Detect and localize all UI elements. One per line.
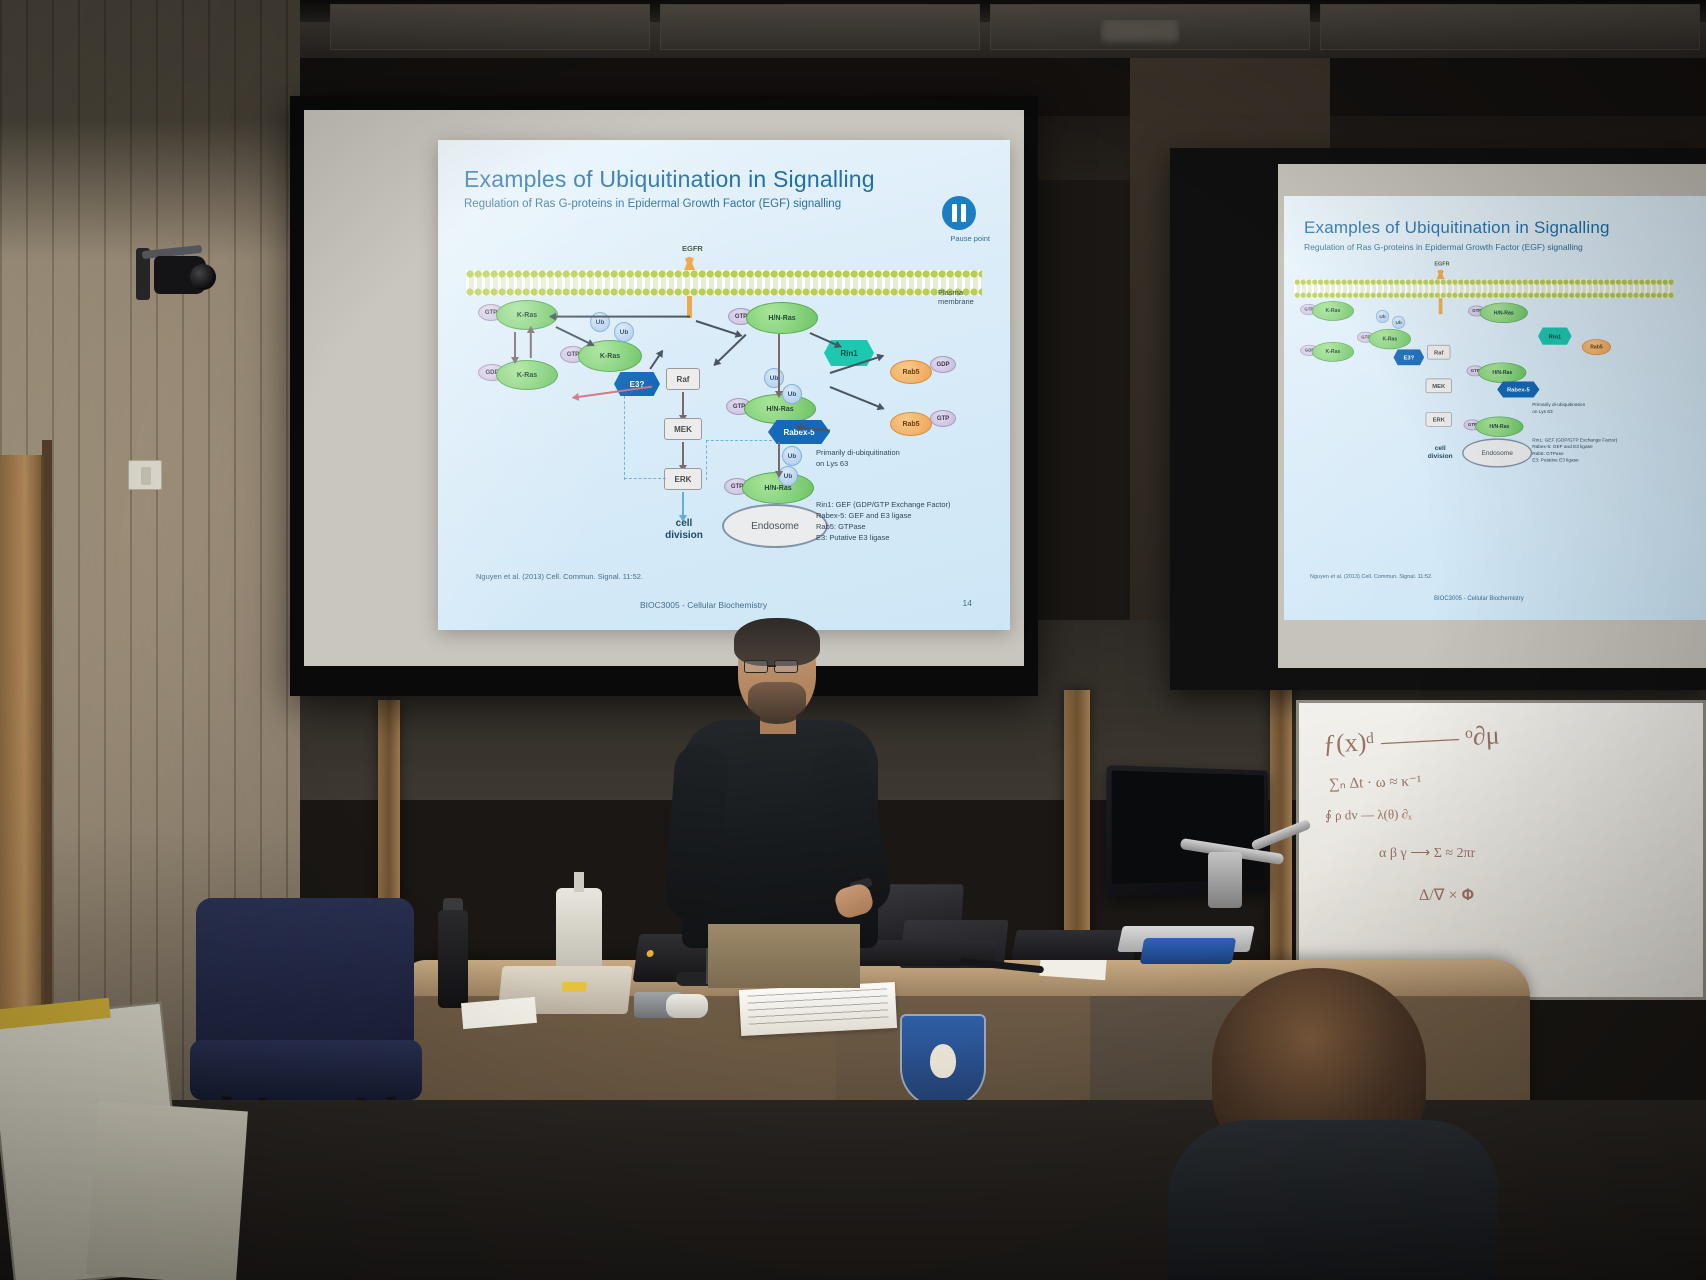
legend-item: Rin1: GEF (GDP/GTP Exchange Factor) (816, 500, 996, 511)
blue-device[interactable] (1140, 938, 1237, 964)
presenter (664, 624, 900, 964)
ceiling-panel (660, 4, 980, 50)
chair-backrest[interactable] (196, 898, 414, 1058)
mek-to-erk-arrow (682, 442, 684, 466)
wall-camera (136, 248, 222, 310)
cell-division-line2: division (646, 530, 722, 542)
audience-member-body (1168, 1120, 1498, 1280)
power-led-icon (646, 950, 654, 957)
glasses-icon (774, 660, 798, 673)
rabex5-protein: Rabex-5 (1497, 381, 1539, 397)
slide-page-number: 14 (963, 598, 972, 608)
white-device[interactable] (666, 994, 708, 1018)
university-crest-icon (900, 1014, 986, 1108)
whiteboard: ƒ(x)ᵈ ——— ᵒ∂μ ∑ₙ Δt · ω ≈ κ⁻¹ ∮ ρ dv — λ… (1296, 700, 1706, 1000)
rin1-protein: Rin1 (824, 340, 874, 366)
annotation-line2: on Lys 63 (1532, 409, 1620, 416)
mek-box: MEK (664, 418, 702, 440)
e3-ligase: E3? (614, 372, 660, 396)
legend-item: Rabex-5: GEF and E3 ligase (816, 511, 996, 522)
dashed-inhibition-2 (706, 440, 772, 441)
legend-item: E3: Putative E3 ligase (816, 533, 996, 544)
legend-block: Rin1: GEF (GDP/GTP Exchange Factor) Rabe… (1532, 437, 1642, 465)
ceiling-speaker (1100, 20, 1180, 46)
hnras-to-endosome-arrow (778, 442, 780, 472)
raf-box: Raf (1427, 345, 1450, 360)
raf-to-mek-arrow (682, 392, 684, 416)
whiteboard-scribble: α β γ ⟶ Σ ≈ 2πr (1379, 845, 1475, 862)
annotation-line1: Primarily di-ubiquitination (1532, 402, 1620, 409)
presenter-trousers (708, 924, 860, 988)
lecture-theatre-photo: Examples of Ubiquitination in Signalling… (0, 0, 1706, 1280)
cell-division-line1: cell (646, 518, 722, 530)
ubiquitin-icon: Ub (764, 368, 784, 388)
hn-ras-top: H/N-Ras (1480, 303, 1528, 323)
rab5-top: Rab5 (890, 360, 932, 384)
cycle-arrow-up (530, 332, 532, 358)
whiteboard-scribble: ∮ ρ dv — λ(θ) ∂ₓ (1325, 806, 1412, 824)
annotation-block: Primarily di-ubiquitination on Lys 63 (1532, 402, 1620, 416)
dashed-inhibition-1 (624, 478, 666, 479)
mek-box: MEK (1426, 379, 1452, 394)
hnras-vertical-arrow (778, 334, 780, 392)
gdp-badge: GDP (930, 356, 956, 373)
raf-box: Raf (666, 368, 700, 390)
membrane-label: Plasma membrane (938, 288, 974, 307)
annotation-line2: on Lys 63 (816, 459, 956, 470)
water-bottle[interactable] (438, 910, 468, 1008)
endosome: Endosome (1462, 438, 1532, 467)
light-switch[interactable] (128, 460, 162, 490)
hn-ras-mid: H/N-Ras (744, 394, 816, 424)
erk-to-division-arrow (682, 492, 684, 516)
membrane-label-2: membrane (938, 297, 974, 306)
rin1-to-rab5gtp-arrow (830, 386, 884, 409)
cycle-arrow-down (514, 332, 516, 358)
membrane-label-1: Plasma (938, 288, 974, 297)
signalling-diagram: EGFR GTP K-Ras GDP K-Ras GTP K-Ras Ub Ub… (1284, 196, 1592, 459)
ubiquitin-icon: Ub (590, 312, 610, 332)
legend-block: Rin1: GEF (GDP/GTP Exchange Factor) Rabe… (816, 500, 996, 544)
slide-footer: BIOC3005 - Cellular Biochemistry (1434, 596, 1524, 602)
hnras-to-raf-arrow (714, 334, 747, 366)
endosome: Endosome (722, 504, 828, 548)
legend-item: Rab5: GTPase (816, 522, 996, 533)
egfr-label: EGFR (1434, 260, 1449, 267)
ceiling-panel (330, 4, 650, 50)
k-ras-ubiquitinated: K-Ras (1369, 329, 1411, 349)
monitor-clamp (1208, 852, 1242, 908)
gtp-badge: GTP (930, 410, 956, 427)
glasses-bridge (768, 665, 776, 667)
egfr-label: EGFR (682, 244, 703, 253)
e3-to-ub-arrow (649, 350, 663, 369)
legend-item: Rabex-5: GEF and E3 ligase (1532, 444, 1642, 451)
hn-ras-mid: H/N-Ras (1478, 362, 1526, 382)
legend-item: E3: Putative E3 ligase (1532, 458, 1642, 465)
ceiling-panel (1320, 4, 1700, 50)
rin1-protein: Rin1 (1538, 327, 1572, 345)
camera-lens-icon (190, 264, 216, 290)
slide-duplicate: Examples of Ubiquitination in Signalling… (1284, 196, 1706, 620)
cell-division-label: cell division (646, 518, 722, 542)
receptor-to-kras-arrow (550, 316, 690, 318)
e3-ligase: E3? (1394, 349, 1425, 365)
annotation-block: Primarily di-ubiquitination on Lys 63 (816, 448, 956, 470)
presenter-beard (748, 682, 806, 724)
slide-citation: Nguyen et al. (2013) Cell. Commun. Signa… (1310, 574, 1433, 580)
plasma-membrane (1294, 279, 1674, 298)
swan-icon (930, 1044, 956, 1078)
rab5-bottom: Rab5 (890, 412, 932, 436)
cell-division-line2: division (1414, 452, 1467, 460)
erk-box: ERK (1426, 412, 1452, 427)
dashed-inhibition-3 (706, 440, 707, 480)
ubiquitin-icon: Ub (782, 446, 802, 466)
ubiquitin-icon: Ub (614, 322, 634, 342)
k-ras-gtp: K-Ras (1312, 301, 1354, 321)
glasses-icon (744, 660, 768, 673)
rab5-top: Rab5 (1582, 339, 1611, 355)
hn-ras-top: H/N-Ras (746, 302, 818, 334)
lecture-notes[interactable] (739, 982, 897, 1036)
hnras-to-rin1-arrow (810, 332, 842, 347)
annotation-line1: Primarily di-ubiquitination (816, 448, 956, 459)
ubiquitin-icon: Ub (1376, 310, 1389, 323)
slide-citation: Nguyen et al. (2013) Cell. Commun. Signa… (476, 572, 643, 581)
slide-main: Examples of Ubiquitination in Signalling… (438, 140, 1010, 630)
cell-division-label: cell division (1414, 444, 1467, 460)
ubiquitin-icon: Ub (1392, 316, 1405, 329)
slide-footer: BIOC3005 - Cellular Biochemistry (640, 600, 767, 610)
hn-ras-endosome: H/N-Ras (1475, 416, 1523, 436)
presenter-hair (734, 618, 820, 666)
kras-to-ubkras-arrow (556, 326, 594, 346)
leaning-board-secondary (86, 1101, 248, 1280)
dashed-inhibition-4 (624, 396, 625, 480)
k-ras-gdp: K-Ras (1312, 342, 1354, 362)
plasma-membrane (466, 270, 982, 296)
whiteboard-scribble: ∑ₙ Δt · ω ≈ κ⁻¹ (1329, 771, 1422, 793)
legend-item: Rin1: GEF (GDP/GTP Exchange Factor) (1532, 437, 1642, 444)
cell-division-line1: cell (1414, 444, 1467, 452)
k-ras-gdp: K-Ras (496, 360, 558, 390)
whiteboard-scribble: Δ/∇ × 𝚽 (1419, 885, 1474, 905)
signalling-diagram: EGFR Plasma membrane GTP K-Ras GDP K-Ras… (438, 140, 1010, 560)
side-door[interactable] (0, 455, 44, 1015)
erk-box: ERK (664, 468, 702, 490)
chair-seat[interactable] (190, 1040, 422, 1100)
whiteboard-scribble: ƒ(x)ᵈ ——— ᵒ∂μ (1322, 720, 1500, 759)
ubiquitin-icon: Ub (782, 384, 802, 404)
legend-item: Rab5: GTPase (1532, 451, 1642, 458)
